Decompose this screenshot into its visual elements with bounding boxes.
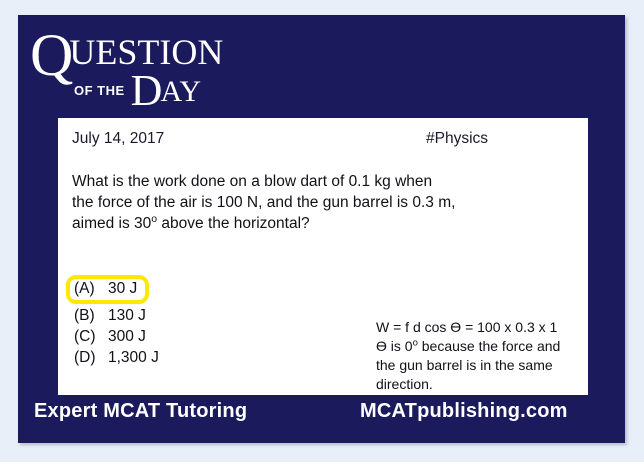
footer-website[interactable]: MCATpublishing.com [360,400,568,423]
question-line-3: aimed is 30o above the horizontal? [72,213,572,234]
logo-drop-cap-d: D [131,66,163,115]
logo-connector-of-the: OF THE [74,83,125,98]
slide-canvas: QUESTION OF THEDAY July 14, 2017 #Physic… [0,0,644,462]
logo-word-ay: AY [160,75,201,108]
answer-choice-c-value: 300 J [108,328,146,345]
answer-choice-d[interactable]: (D)1,300 J [72,347,161,368]
question-line-3-pre: aimed is 30 [72,215,151,232]
card-header: July 14, 2017 #Physics [58,118,588,162]
question-line-3-post: above the horizontal? [157,215,310,232]
question-line-1: What is the work done on a blow dart of … [72,171,572,192]
answer-choice-d-label: (D) [74,347,108,368]
answer-choice-c[interactable]: (C)300 J [72,326,161,347]
solution-line-2: Ɵ is 0o because the force and [376,337,581,356]
question-date: July 14, 2017 [72,130,164,148]
logo-drop-cap-q: Q [30,22,72,88]
answer-choice-b[interactable]: (B)130 J [72,305,161,326]
answer-choice-b-label: (B) [74,305,108,326]
answer-choice-a[interactable]: (A)30 J [66,275,149,304]
topic-hashtag: #Physics [426,130,488,148]
answer-choice-a-label: (A) [74,279,108,299]
answer-choice-d-value: 1,300 J [108,349,159,366]
question-of-the-day-logo: QUESTION OF THEDAY [30,25,330,107]
answer-choices: (A)30 J (B)130 J (C)300 J (D)1,300 J [72,275,161,368]
question-line-2: the force of the air is 100 N, and the g… [72,192,572,213]
solution-line-4: direction. [376,375,581,394]
solution-line-1: W = f d cos Ɵ = 100 x 0.3 x 1 [376,318,581,337]
answer-choice-b-value: 130 J [108,307,146,324]
solution-explanation: W = f d cos Ɵ = 100 x 0.3 x 1 Ɵ is 0o be… [376,318,581,394]
navy-panel: QUESTION OF THEDAY July 14, 2017 #Physic… [18,15,625,443]
answer-choice-a-value: 30 J [108,280,137,297]
answer-choice-c-label: (C) [74,326,108,347]
solution-line-2-pre: Ɵ is 0 [376,338,413,354]
footer-tagline: Expert MCAT Tutoring [34,400,247,423]
solution-line-2-post: because the force and [418,338,560,354]
logo-line-of-the-day: OF THEDAY [74,69,203,113]
solution-line-3: the gun barrel is in the same [376,356,581,375]
question-text: What is the work done on a blow dart of … [72,171,572,234]
question-card: July 14, 2017 #Physics What is the work … [58,118,588,395]
